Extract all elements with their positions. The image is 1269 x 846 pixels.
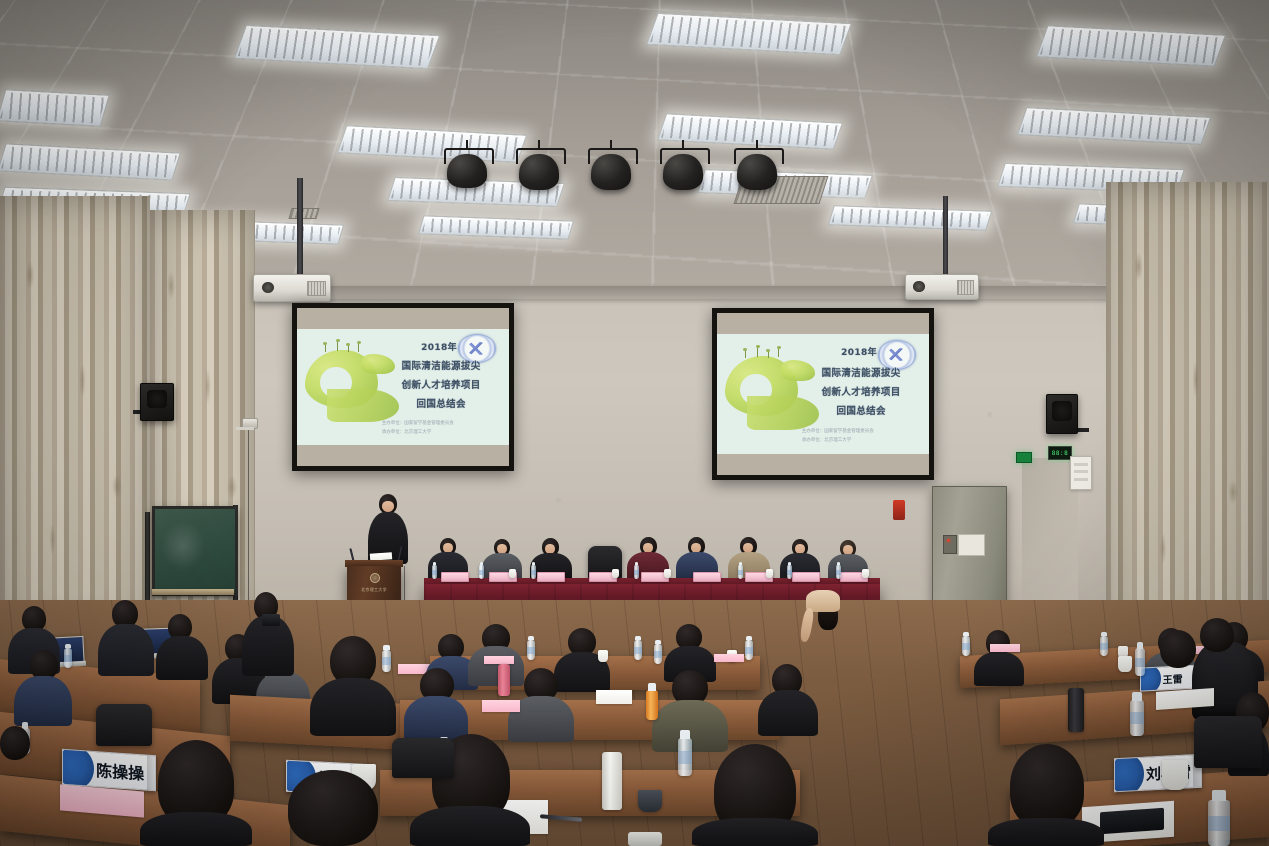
attendee-head <box>1160 630 1196 668</box>
water-bottle <box>382 650 391 672</box>
podium-emblem-icon <box>370 573 381 584</box>
head-table-name-card <box>441 572 469 582</box>
handout-paper <box>714 654 744 662</box>
handout-paper <box>482 700 520 712</box>
placard-name: 王雷 <box>1163 670 1183 686</box>
water-bottle <box>1130 700 1144 736</box>
attendee-head <box>0 726 30 760</box>
placard-fold <box>147 756 155 791</box>
sprout-icon <box>757 347 758 357</box>
paper-cup <box>1162 760 1188 790</box>
slide-subtitle-host: 承办单位：北京理工大学 <box>802 438 852 445</box>
projector-lens <box>913 281 925 292</box>
attendee-head <box>288 770 378 846</box>
tablet-device <box>1100 808 1164 834</box>
chalk-tray <box>152 589 234 595</box>
water-bottle <box>432 565 437 579</box>
slide-content: 2018年 国际清洁能源拔尖 创新人才培养项目 回国总结会 主办单位：国家留学基… <box>717 334 929 454</box>
photographer <box>240 592 300 682</box>
camera-bracket <box>236 427 254 430</box>
sprout-icon <box>745 350 746 358</box>
placard-name: 陈操操 <box>96 757 144 784</box>
wall-speaker-right <box>1046 394 1078 434</box>
water-bottle <box>531 565 536 579</box>
slide-top-band <box>297 308 509 329</box>
stage-light <box>519 154 559 190</box>
projector-lens <box>262 282 274 293</box>
attendee-torso <box>758 690 818 736</box>
attendee-head <box>1010 744 1084 828</box>
water-bottle <box>634 565 639 579</box>
slide-top-band <box>717 313 929 334</box>
slide-content: 2018年 国际清洁能源拔尖 创新人才培养项目 回国总结会 主办单位：国家留学基… <box>297 329 509 446</box>
water-bottle <box>527 640 535 660</box>
slide-bottom-band <box>297 445 509 466</box>
head-table-name-card <box>693 572 721 582</box>
slide-title-year: 2018年 <box>798 348 921 360</box>
sprout-icon <box>348 345 349 352</box>
projector-vent <box>957 280 975 294</box>
thermos-flask <box>1068 688 1084 732</box>
thermos-flask <box>602 752 622 810</box>
water-bottle <box>1135 648 1145 676</box>
slide-bottom-band <box>717 454 929 475</box>
screen-surface: 2018年 国际清洁能源拔尖 创新人才培养项目 回国总结会 主办单位：国家留学基… <box>297 308 509 466</box>
paper-cup <box>1118 656 1132 672</box>
sprout-icon <box>358 343 359 352</box>
attendee-torso <box>410 806 530 846</box>
water-bottle <box>738 565 743 579</box>
water-bottle <box>678 738 692 776</box>
attendee-torso <box>14 676 72 726</box>
cabinet-led-icon <box>947 539 950 542</box>
projector-pole <box>943 196 948 276</box>
chair-back <box>1194 716 1262 768</box>
digital-display: 88:8 <box>1048 446 1072 460</box>
screen-surface: 2018年 国际清洁能源拔尖 创新人才培养项目 回国总结会 主办单位：国家留学基… <box>717 313 929 475</box>
handout-paper <box>484 656 514 664</box>
speaker-face <box>382 501 394 512</box>
attendee-torso <box>310 678 396 736</box>
ceiling-air-vent <box>288 208 319 219</box>
water-bottle <box>654 644 662 664</box>
water-bottle <box>745 640 753 660</box>
smartphone <box>628 832 662 846</box>
cabinet-label <box>958 534 985 556</box>
attendee-standing <box>800 588 852 650</box>
camera-cable <box>248 430 249 600</box>
sprout-icon <box>337 341 338 351</box>
slide-title-year: 2018年 <box>378 343 501 355</box>
water-bottle <box>1208 800 1230 846</box>
head-table-name-card <box>537 572 565 582</box>
bending-person-arm <box>799 607 815 642</box>
stage-light <box>663 154 703 190</box>
conference-hall-photo: 2018年 国际清洁能源拔尖 创新人才培养项目 回国总结会 主办单位：国家留学基… <box>0 0 1269 846</box>
placard-blob-icon <box>1114 754 1144 792</box>
water-bottle <box>634 640 642 660</box>
thermos-flask <box>498 664 510 696</box>
cabinet-panel <box>943 535 957 554</box>
projection-screen-right: 2018年 国际清洁能源拔尖 创新人才培养项目 回国总结会 主办单位：国家留学基… <box>712 308 934 480</box>
attendee-torso <box>692 818 818 846</box>
sprout-icon <box>768 351 769 358</box>
sprout-icon <box>778 348 779 357</box>
stage-light <box>591 154 631 190</box>
ceiling-projector-left <box>253 274 331 302</box>
ceiling-light <box>0 89 110 127</box>
water-bottle <box>479 565 484 579</box>
attendee-torso <box>988 818 1104 846</box>
paper-cup <box>598 650 608 662</box>
projector-vent <box>307 281 326 297</box>
fire-safety-marker <box>893 500 905 520</box>
podium-emblem-text: 北京理工大学 <box>347 587 401 593</box>
slide-title-line2: 创新人才培养项目 <box>378 380 505 393</box>
attendee-torso <box>140 812 252 846</box>
paper-cup <box>862 569 869 578</box>
curtain-far-left <box>0 196 150 636</box>
attendee-torso <box>156 636 208 680</box>
exit-sign <box>1016 452 1032 463</box>
mug <box>638 790 662 812</box>
projection-screen-left: 2018年 国际清洁能源拔尖 创新人才培养项目 回国总结会 主办单位：国家留学基… <box>292 303 514 471</box>
projector-pole <box>297 178 303 276</box>
slide-subtitle-organizer: 主办单位：国家留学基金管理委员会 <box>802 429 874 436</box>
water-bottle <box>1100 636 1108 656</box>
handout-paper <box>596 690 632 704</box>
slide-title-line1: 国际清洁能源拔尖 <box>798 368 925 381</box>
chalk-smudge <box>161 521 205 571</box>
water-bottle <box>836 565 841 579</box>
slide-title-line3: 回国总结会 <box>378 399 505 412</box>
slide-subtitle-host: 承办单位：北京理工大学 <box>382 430 432 437</box>
attendee-torso <box>98 624 154 676</box>
handout-paper <box>990 644 1020 652</box>
paper-cup <box>664 569 671 578</box>
stage-light-group <box>430 140 800 210</box>
curtain-right <box>1106 182 1269 652</box>
paper-cup <box>509 569 516 578</box>
slide-title-line3: 回国总结会 <box>798 406 925 419</box>
slide-title-line1: 国际清洁能源拔尖 <box>378 361 505 374</box>
camera-icon <box>262 614 280 626</box>
chair-back <box>96 704 152 746</box>
slide-title-line2: 创新人才培养项目 <box>798 387 925 400</box>
attendee-torso <box>404 696 468 740</box>
name-placard: 刘小雷 <box>1114 754 1202 793</box>
sprout-icon <box>325 344 326 352</box>
stage-light <box>737 154 777 190</box>
head-table-name-card <box>792 572 820 582</box>
stage-light <box>447 154 487 188</box>
attendee-head <box>1200 618 1234 652</box>
drink-bottle <box>646 690 658 720</box>
slide-subtitle-organizer: 主办单位：国家留学基金管理委员会 <box>382 421 454 428</box>
ceiling-projector-right <box>905 274 979 300</box>
wall-speaker-left <box>140 383 174 421</box>
water-bottle <box>962 636 970 656</box>
paper-cup <box>766 569 773 578</box>
chalkboard <box>152 506 238 596</box>
water-bottle <box>64 648 72 668</box>
chair-back <box>392 738 454 778</box>
attendee-torso <box>974 652 1024 686</box>
paper-cup <box>612 569 619 578</box>
water-bottle <box>787 565 792 579</box>
wall-control-plate <box>1070 456 1092 490</box>
attendee-torso <box>468 646 524 686</box>
